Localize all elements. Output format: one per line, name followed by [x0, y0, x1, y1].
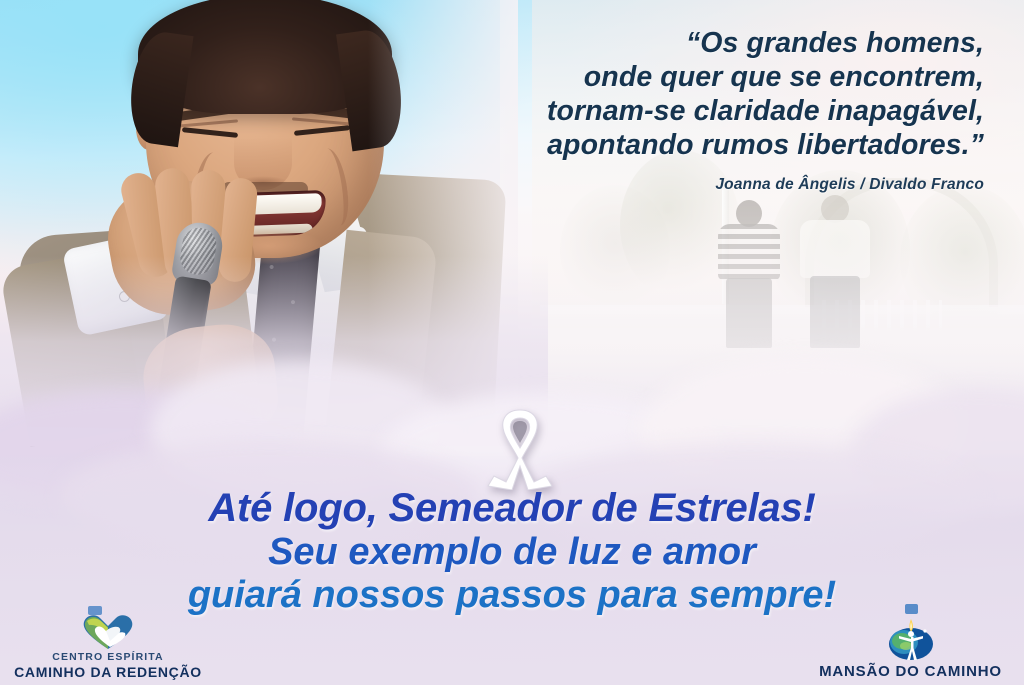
- headline-block: Até logo, Semeador de Estrelas! Seu exem…: [0, 486, 1024, 617]
- decorative-mark-right: [905, 604, 918, 614]
- logo-mansao-do-caminho[interactable]: MANSÃO DO CAMINHO: [803, 622, 1018, 681]
- memorial-poster: “Os grandes homens, onde quer que se enc…: [0, 0, 1024, 685]
- headline-line-1: Até logo, Semeador de Estrelas!: [0, 486, 1024, 531]
- quote-block: “Os grandes homens, onde quer que se enc…: [364, 26, 984, 194]
- logo-right-line1: MANSÃO DO CAMINHO: [803, 662, 1018, 681]
- hair: [138, 0, 392, 114]
- portrait-bottom-fade: [0, 256, 548, 446]
- logo-left-line1: CENTRO ESPÍRITA: [8, 651, 208, 664]
- quote-line-4: apontando rumos libertadores.”: [364, 128, 984, 162]
- logo-left-line2: CAMINHO DA REDENÇÃO: [8, 664, 208, 681]
- quote-attribution: Joanna de Ângelis / Divaldo Franco: [364, 176, 984, 194]
- hands-heart-icon: [8, 611, 208, 651]
- quote-line-2: onde quer que se encontrem,: [364, 60, 984, 94]
- white-ribbon-icon: [482, 408, 558, 490]
- logo-centro-espirita[interactable]: CENTRO ESPÍRITA CAMINHO DA REDENÇÃO: [8, 611, 208, 681]
- headline-line-2: Seu exemplo de luz e amor: [0, 531, 1024, 574]
- quote-line-1: “Os grandes homens,: [364, 26, 984, 60]
- globe-figure-flame-icon: [803, 622, 1018, 662]
- quote-line-3: tornam-se claridade inapagável,: [364, 94, 984, 128]
